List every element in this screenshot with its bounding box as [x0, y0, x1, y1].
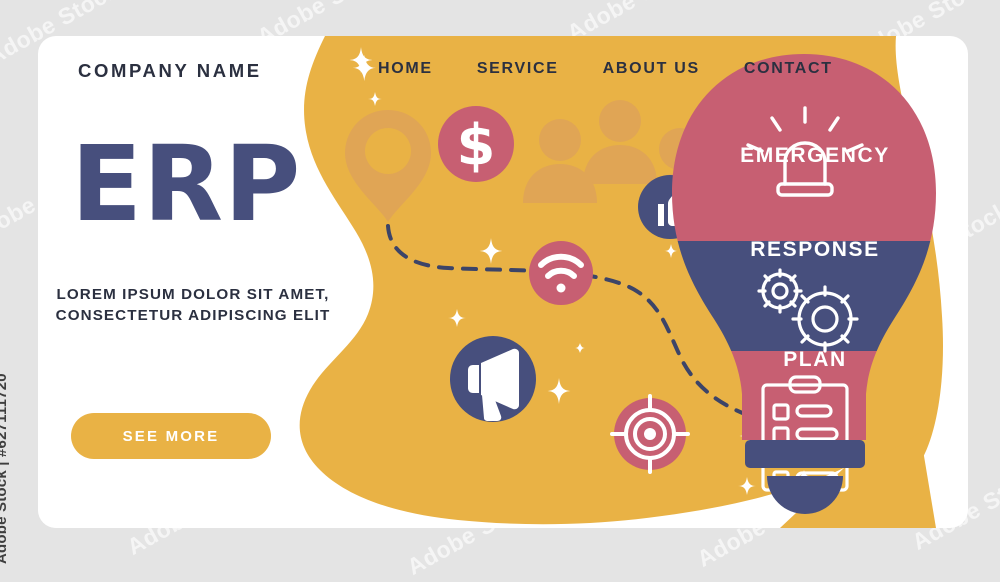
nav-item-contact[interactable]: CONTACT [744, 60, 833, 78]
bulb-label-response: RESPONSE [710, 238, 920, 262]
hero-subtitle: LOREM IPSUM DOLOR SIT AMET, CONSECTETUR … [48, 284, 338, 326]
nav-item-service[interactable]: SERVICE [477, 60, 559, 78]
bulb-base-collar [745, 440, 865, 468]
screenshot-canvas: Adobe Stock Adobe Stock Adobe Stock Adob… [0, 0, 1000, 582]
nav-item-home[interactable]: HOME [378, 60, 433, 78]
megaphone-icon[interactable] [450, 336, 536, 422]
stock-credit-label: Adobe Stock | #627111720 [0, 373, 10, 564]
company-name: COMPANY NAME [78, 60, 262, 82]
bulb-label-emergency: EMERGENCY [710, 144, 920, 168]
page-title: ERP [71, 132, 301, 236]
main-nav: HOME SERVICE ABOUT US CONTACT [378, 60, 833, 78]
see-more-button[interactable]: SEE MORE [71, 413, 271, 459]
bulb-label-plan: PLAN [710, 348, 920, 372]
hero-card: $ [38, 36, 968, 528]
dollar-icon[interactable]: $ [438, 106, 514, 182]
nav-item-about-us[interactable]: ABOUT US [603, 60, 700, 78]
svg-text:$: $ [457, 113, 496, 178]
wifi-icon[interactable] [529, 241, 593, 305]
